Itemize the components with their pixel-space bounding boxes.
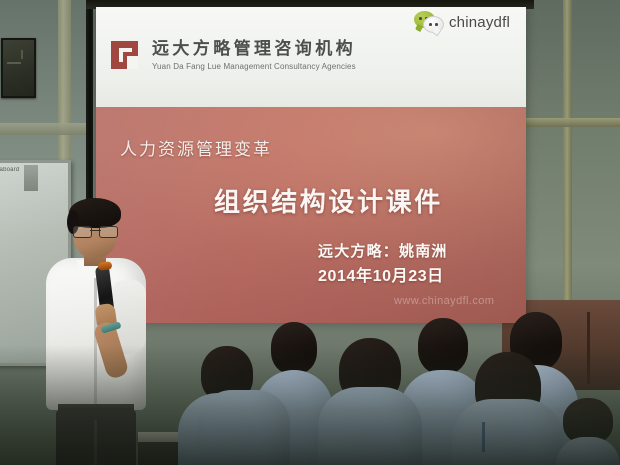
slide-url-watermark: www.chinaydfl.com: [394, 295, 494, 307]
yuandafanglue-square-logo-icon: [111, 41, 138, 69]
company-name-group: 远大方略管理咨询机构 Yuan Da Fang Lue Management C…: [152, 40, 356, 71]
floor-shadow-band: [0, 345, 620, 465]
bubble-eye-left: [419, 17, 422, 20]
bubble-eye-left-2: [429, 23, 432, 26]
bubble-eye-right-2: [435, 23, 438, 26]
glasses-bridge: [90, 230, 101, 231]
glasses-lens-right: [99, 226, 118, 238]
picture-detail-line: [7, 62, 21, 64]
presenter-glasses: [73, 226, 118, 236]
framed-certificate-picture: [1, 38, 36, 98]
projected-slide: 远大方略管理咨询机构 Yuan Da Fang Lue Management C…: [96, 7, 526, 323]
wall-beam-horizontal: [0, 123, 92, 135]
wechat-bubble-white: [423, 16, 444, 33]
lecture-photo-scene: naboard 远大方略管理咨询机构 Yuan Da Fang Lue Mana…: [0, 0, 620, 465]
slide-body: 人力资源管理变革 组织结构设计课件 远大方略：姚南洲 2014年10月23日 w…: [96, 107, 526, 323]
company-logo-block: 远大方略管理咨询机构 Yuan Da Fang Lue Management C…: [111, 40, 356, 71]
slide-main-title: 组织结构设计课件: [214, 182, 443, 219]
glasses-lens-left: [73, 226, 92, 238]
wechat-id-label: chinaydfl: [449, 14, 510, 31]
slide-header: 远大方略管理咨询机构 Yuan Da Fang Lue Management C…: [96, 7, 526, 107]
wechat-badge: chinaydfl: [414, 11, 510, 33]
picture-detail-line-2: [21, 50, 23, 59]
company-name-cn: 远大方略管理咨询机构: [152, 40, 356, 58]
slide-subtitle: 人力资源管理变革: [120, 135, 272, 160]
slide-presenter-line: 远大方略：姚南洲: [318, 240, 448, 261]
company-name-en: Yuan Da Fang Lue Management Consultancy …: [152, 62, 356, 71]
logo-shape-cut: [127, 56, 138, 69]
slide-date-line: 2014年10月23日: [318, 262, 444, 286]
wechat-bubbles-icon: [414, 11, 444, 33]
whiteboard-brand-label: naboard: [0, 167, 19, 173]
whiteboard-tray: [24, 165, 38, 191]
presenter-hair: [69, 198, 121, 228]
